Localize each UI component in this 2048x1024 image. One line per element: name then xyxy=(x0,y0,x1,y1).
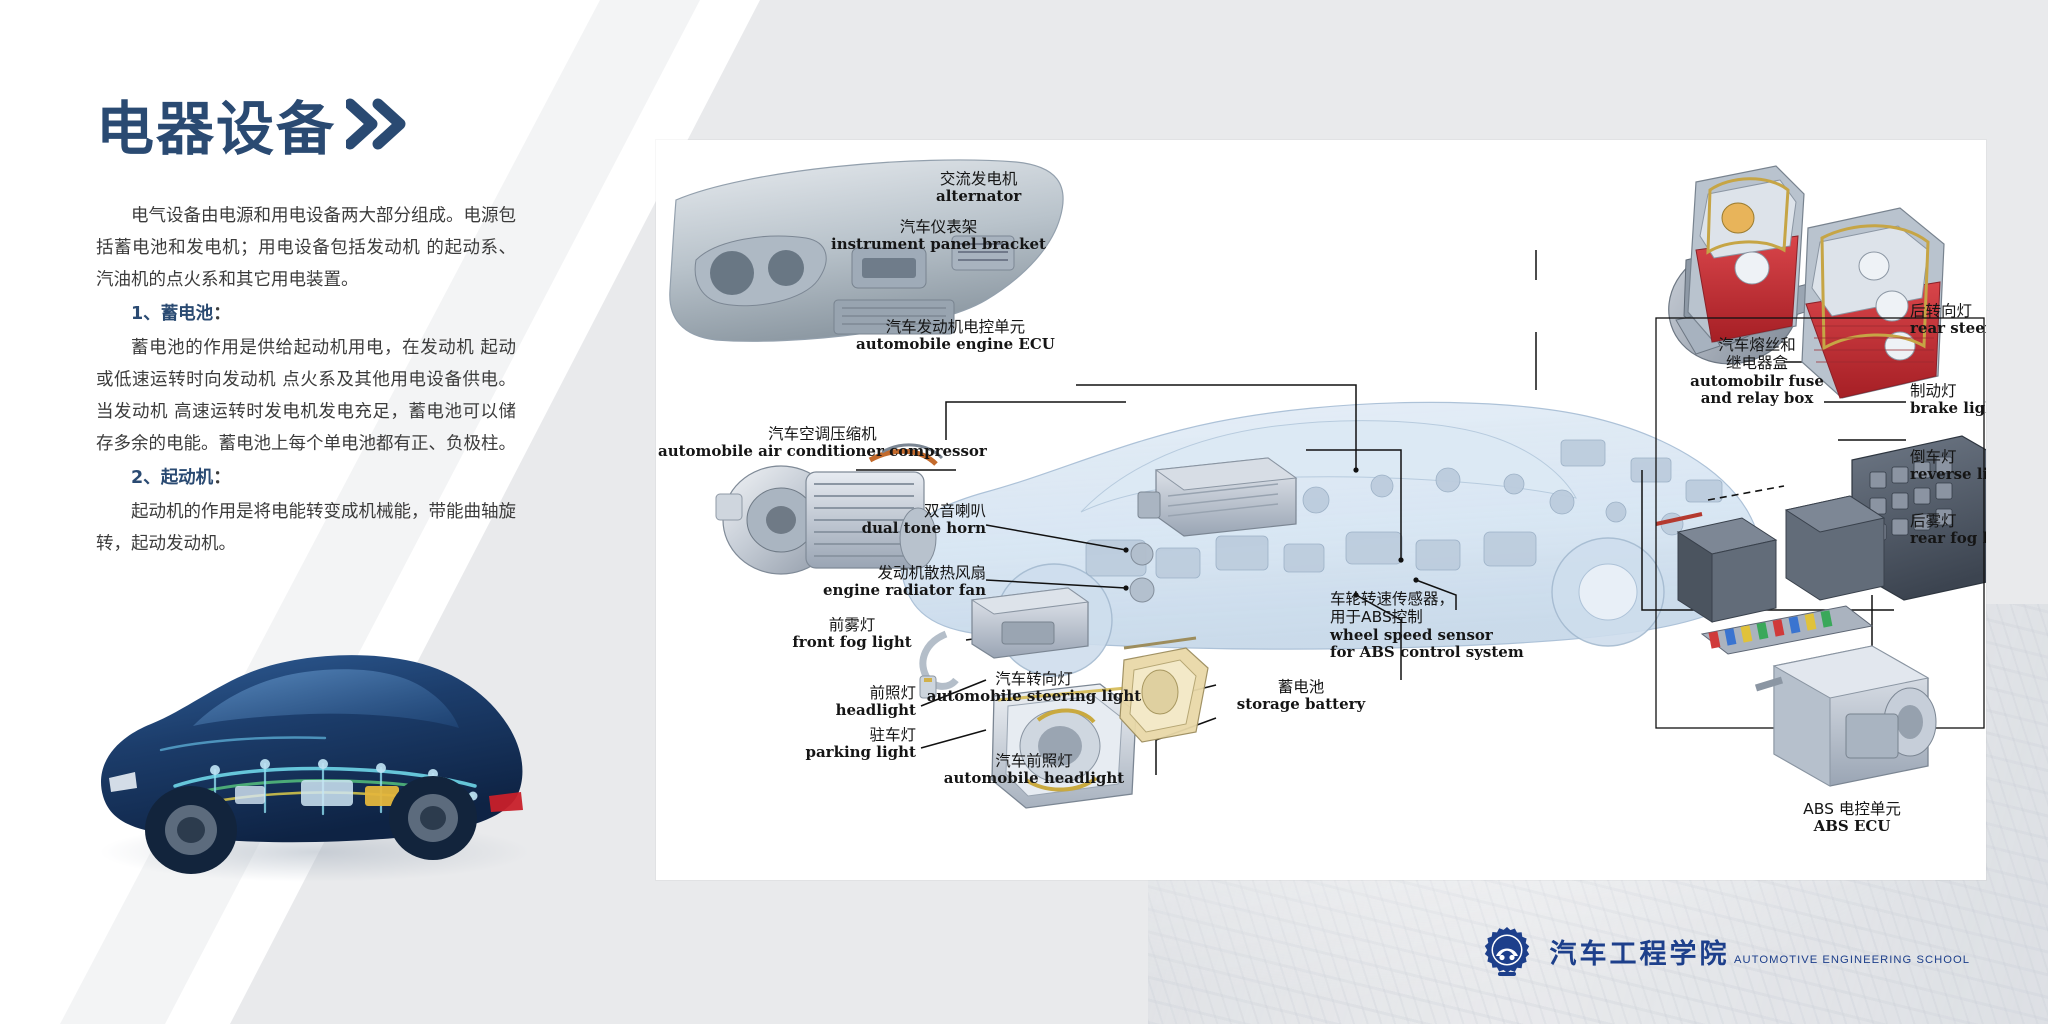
section-1-colon: ： xyxy=(213,304,231,324)
label-parking-light: 驻车灯 parking light xyxy=(656,726,916,762)
xray-car-illustration xyxy=(65,600,565,890)
label-storage-battery: 蓄电池 storage battery xyxy=(1216,678,1386,714)
label-rear-fog-light: 后雾灯 rear fog light xyxy=(1910,512,1986,548)
school-name-cn: 汽车工程学院 xyxy=(1550,939,1730,970)
label-engine-ecu: 汽车发动机电控单元 automobile engine ECU xyxy=(856,318,1055,354)
section-2-colon: ： xyxy=(213,468,231,488)
section-heading-2: 2、起动机： xyxy=(96,462,516,494)
label-fuse-relay-box: 汽车熔丝和 继电器盒 automobilr fuse and relay box xyxy=(1642,336,1872,408)
label-rear-steering-light: 后转向灯 rear steering light xyxy=(1910,302,1986,338)
section-2-title: 起动机 xyxy=(161,468,214,488)
automobile-electrical-diagram: 交流发电机 alternator 汽车仪表架 instrument panel … xyxy=(656,140,1986,880)
gear-emblem-icon xyxy=(1478,926,1536,984)
page-title: 电器设备 xyxy=(96,82,410,166)
section-1-title: 蓄电池 xyxy=(161,304,214,324)
page-title-text: 电器设备 xyxy=(96,82,336,166)
label-ac-compressor: 汽车空调压缩机 automobile air conditioner compr… xyxy=(658,425,987,461)
label-steering-light: 汽车转向灯 automobile steering light xyxy=(924,670,1144,706)
section-2-number: 2、 xyxy=(131,468,161,488)
section-1-number: 1、 xyxy=(131,304,161,324)
school-name-en: AUTOMOTIVE ENGINEERING SCHOOL xyxy=(1734,954,1970,966)
label-instrument-panel-bracket: 汽车仪表架 instrument panel bracket xyxy=(831,218,1046,254)
label-dual-tone-horn: 双音喇叭 dual tone horn xyxy=(686,502,986,538)
label-reverse-light: 倒车灯 reverse light xyxy=(1910,448,1986,484)
label-brake-light: 制动灯 brake light xyxy=(1910,382,1986,418)
label-front-fog-light: 前雾灯 front fog light xyxy=(732,616,972,652)
label-wheel-speed-sensor: 车轮转速传感器， 用于ABS控制 wheel speed sensor for … xyxy=(1330,590,1524,662)
label-automobile-headlight: 汽车前照灯 automobile headlight xyxy=(914,752,1154,788)
logo-text-block: 汽车工程学院 AUTOMOTIVE ENGINEERING SCHOOL xyxy=(1550,939,1970,970)
label-abs-ecu: ABS 电控单元 ABS ECU xyxy=(1762,800,1942,836)
abs-ecu-art xyxy=(1756,646,1936,786)
body-text-block: 电气设备由电源和用电设备两大部分组成。电源包括蓄电池和发电机；用电设备包括发动机… xyxy=(96,200,516,562)
double-chevron-right-icon xyxy=(346,98,410,150)
paragraph-starter: 起动机的作用是将电能转变成机械能，带能曲轴旋转，起动发动机。 xyxy=(96,496,516,560)
paragraph-battery: 蓄电池的作用是供给起动机用电，在发动机 起动或低速运转时向发动机 点火系及其他用… xyxy=(96,332,516,460)
section-heading-1: 1、蓄电池： xyxy=(96,298,516,330)
label-alternator: 交流发电机 alternator xyxy=(936,170,1021,206)
school-logo: 汽车工程学院 AUTOMOTIVE ENGINEERING SCHOOL xyxy=(1478,926,1970,984)
label-headlight: 前照灯 headlight xyxy=(656,684,916,720)
label-engine-radiator-fan: 发动机散热风扇 engine radiator fan xyxy=(670,564,986,600)
paragraph-intro: 电气设备由电源和用电设备两大部分组成。电源包括蓄电池和发电机；用电设备包括发动机… xyxy=(96,200,516,296)
